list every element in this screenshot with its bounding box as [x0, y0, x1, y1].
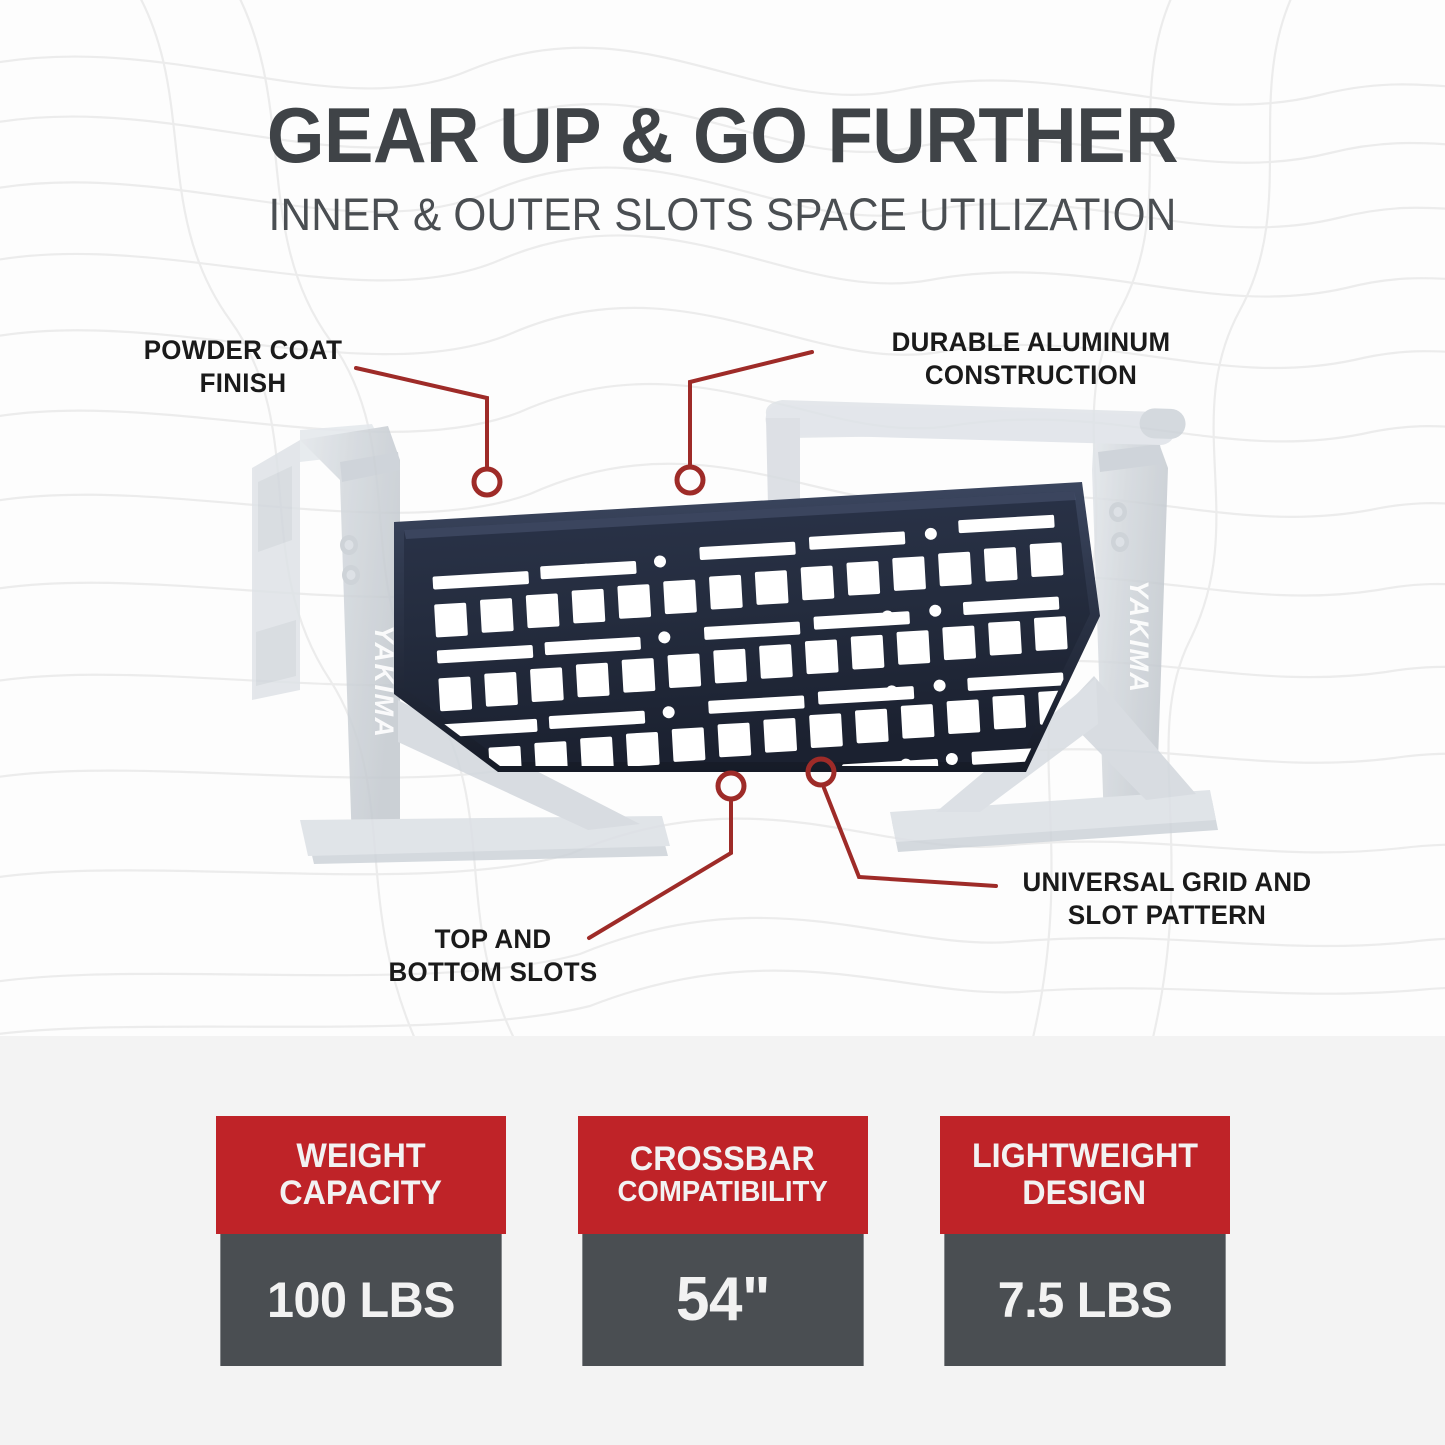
callout-top-bottom-slots: TOP AND BOTTOM SLOTS — [325, 923, 661, 989]
callout-powder-coat-line2: FINISH — [56, 367, 430, 400]
spec-head-lightweight-design: LIGHTWEIGHT DESIGN — [940, 1116, 1230, 1234]
callout-aluminum: DURABLE ALUMINUM CONSTRUCTION — [844, 326, 1218, 392]
spec-head-crossbar-compatibility: CROSSBAR COMPATIBILITY — [578, 1116, 868, 1234]
hero-section: GEAR UP & GO FURTHER INNER & OUTER SLOTS… — [0, 0, 1445, 1036]
spec-head-weight-capacity: WEIGHT CAPACITY — [216, 1116, 506, 1234]
spec-strip: WEIGHT CAPACITY 100 LBS CROSSBAR COMPATI… — [0, 1036, 1445, 1445]
callout-aluminum-line1: DURABLE ALUMINUM — [844, 326, 1218, 359]
spec-value-crossbar-compatibility: 54" — [582, 1234, 863, 1366]
spec-head-line1: LIGHTWEIGHT — [971, 1138, 1197, 1174]
callout-grid-line2: SLOT PATTERN — [980, 899, 1354, 932]
callout-aluminum-line2: CONSTRUCTION — [844, 359, 1218, 392]
spec-value-lightweight-design: 7.5 LBS — [944, 1234, 1225, 1366]
spec-card-row: WEIGHT CAPACITY 100 LBS CROSSBAR COMPATI… — [0, 1036, 1445, 1445]
callout-universal-grid: UNIVERSAL GRID AND SLOT PATTERN — [980, 866, 1354, 932]
spec-head-line1: WEIGHT — [296, 1138, 425, 1174]
spec-card-lightweight-design: LIGHTWEIGHT DESIGN 7.5 LBS — [940, 1116, 1230, 1366]
callout-grid-line1: UNIVERSAL GRID AND — [980, 866, 1354, 899]
infographic-page: GEAR UP & GO FURTHER INNER & OUTER SLOTS… — [0, 0, 1445, 1445]
callout-slots-line2: BOTTOM SLOTS — [325, 956, 661, 989]
callout-slots-line1: TOP AND — [325, 923, 661, 956]
spec-card-crossbar-compatibility: CROSSBAR COMPATIBILITY 54" — [578, 1116, 868, 1366]
spec-value-weight-capacity: 100 LBS — [220, 1234, 501, 1366]
callout-powder-coat-line1: POWDER COAT — [56, 334, 430, 367]
spec-head-line1: CROSSBAR — [630, 1141, 815, 1177]
callout-powder-coat: POWDER COAT FINISH — [56, 334, 430, 400]
spec-head-line2: DESIGN — [1023, 1175, 1147, 1211]
spec-card-weight-capacity: WEIGHT CAPACITY 100 LBS — [216, 1116, 506, 1366]
spec-head-line2: COMPATIBILITY — [617, 1177, 827, 1208]
brand-text-right: YAKIMA — [1124, 580, 1154, 694]
spec-head-line2: CAPACITY — [279, 1175, 442, 1211]
